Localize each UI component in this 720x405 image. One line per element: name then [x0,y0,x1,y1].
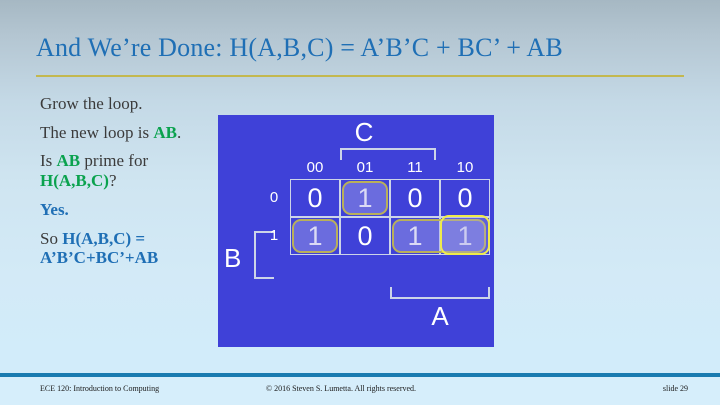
note-line-3: Is AB prime for H(A,B,C)? [40,151,216,190]
note-3-function: H(A,B,C) [40,171,109,190]
note-2-suffix: . [177,123,181,142]
slide-canvas: And We’re Done: H(A,B,C) = A’B’C + BC’ +… [0,0,720,405]
kmap-cell-r0c2[interactable]: 0 [390,179,440,217]
note-line-5: So H(A,B,C) = A’B’C+BC’+AB [40,229,216,268]
note-5-function: H(A,B,C) = [62,229,145,248]
note-3-term-ab: AB [57,151,81,170]
note-5-prefix: So [40,229,62,248]
footer-slide-number: slide 29 [663,384,688,393]
note-3-middle: prime for [80,151,148,170]
kmap-cell-r1c1[interactable]: 0 [340,217,390,255]
kmap-row-header-0: 0 [262,189,286,206]
karnaugh-map-panel: C 00 01 11 10 B 0 1 0 1 0 0 1 0 1 1 A [218,115,494,347]
title-divider [36,75,684,77]
note-line-4: Yes. [40,200,216,220]
footer-copyright: © 2016 Steven S. Lumetta. All rights res… [266,384,416,393]
kmap-bottom-variable-label: A [420,301,460,332]
kmap-top-variable-label: C [344,117,384,148]
kmap-row-header-1: 1 [262,227,286,244]
kmap-cell-r0c3[interactable]: 0 [440,179,490,217]
kmap-left-variable-label: B [224,243,241,274]
explanation-text-column: Grow the loop. The new loop is AB. Is AB… [40,94,216,277]
kmap-col-header-00: 00 [290,159,340,176]
title-block: And We’re Done: H(A,B,C) = A’B’C + BC’ +… [36,33,684,63]
kmap-cell-r1c3[interactable]: 1 [440,217,490,255]
note-line-2: The new loop is AB. [40,123,216,143]
kmap-col-header-01: 01 [340,159,390,176]
note-2-term-ab: AB [153,123,177,142]
kmap-cell-r0c1[interactable]: 1 [340,179,390,217]
kmap-cell-r1c2[interactable]: 1 [390,217,440,255]
note-3-suffix: ? [109,171,117,190]
note-3-prefix: Is [40,151,57,170]
footer-course: ECE 120: Introduction to Computing [40,384,159,393]
kmap-col-header-10: 10 [440,159,490,176]
kmap-cell-r1c0[interactable]: 1 [290,217,340,255]
note-2-prefix: The new loop is [40,123,153,142]
kmap-col-header-11: 11 [390,159,440,176]
page-title: And We’re Done: H(A,B,C) = A’B’C + BC’ +… [36,33,684,63]
note-1-text: Grow the loop. [40,94,142,113]
kmap-grid: 0 1 0 0 1 0 1 1 [290,179,490,255]
note-line-1: Grow the loop. [40,94,216,114]
note-5-expression: A’B’C+BC’+AB [40,248,158,267]
slide-footer: ECE 120: Introduction to Computing © 201… [0,377,720,405]
kmap-a-bracket [390,287,490,299]
kmap-cell-r0c0[interactable]: 0 [290,179,340,217]
note-4-answer: Yes. [40,200,69,219]
